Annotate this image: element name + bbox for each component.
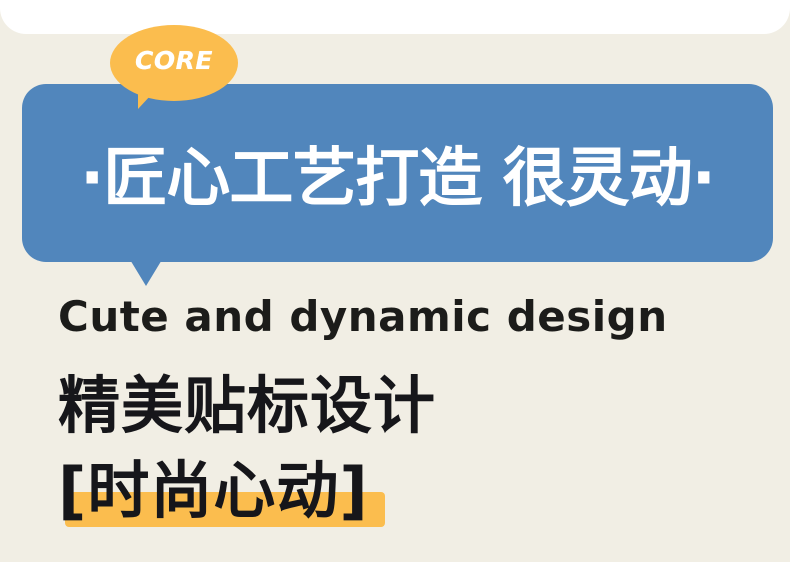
promo-poster: CORE ·匠心工艺打造 很灵动· Cute and dynamic desig…: [0, 0, 790, 562]
chinese-headline-line-2: [时尚心动]: [58, 440, 369, 530]
core-badge: CORE: [110, 25, 238, 107]
core-badge-label: CORE: [110, 25, 238, 95]
english-subtitle: Cute and dynamic design: [58, 292, 668, 341]
chinese-headline-line-1: 精美贴标设计: [58, 355, 436, 445]
blue-banner-headline: ·匠心工艺打造 很灵动·: [22, 84, 773, 262]
blue-banner-tail: [129, 258, 163, 286]
